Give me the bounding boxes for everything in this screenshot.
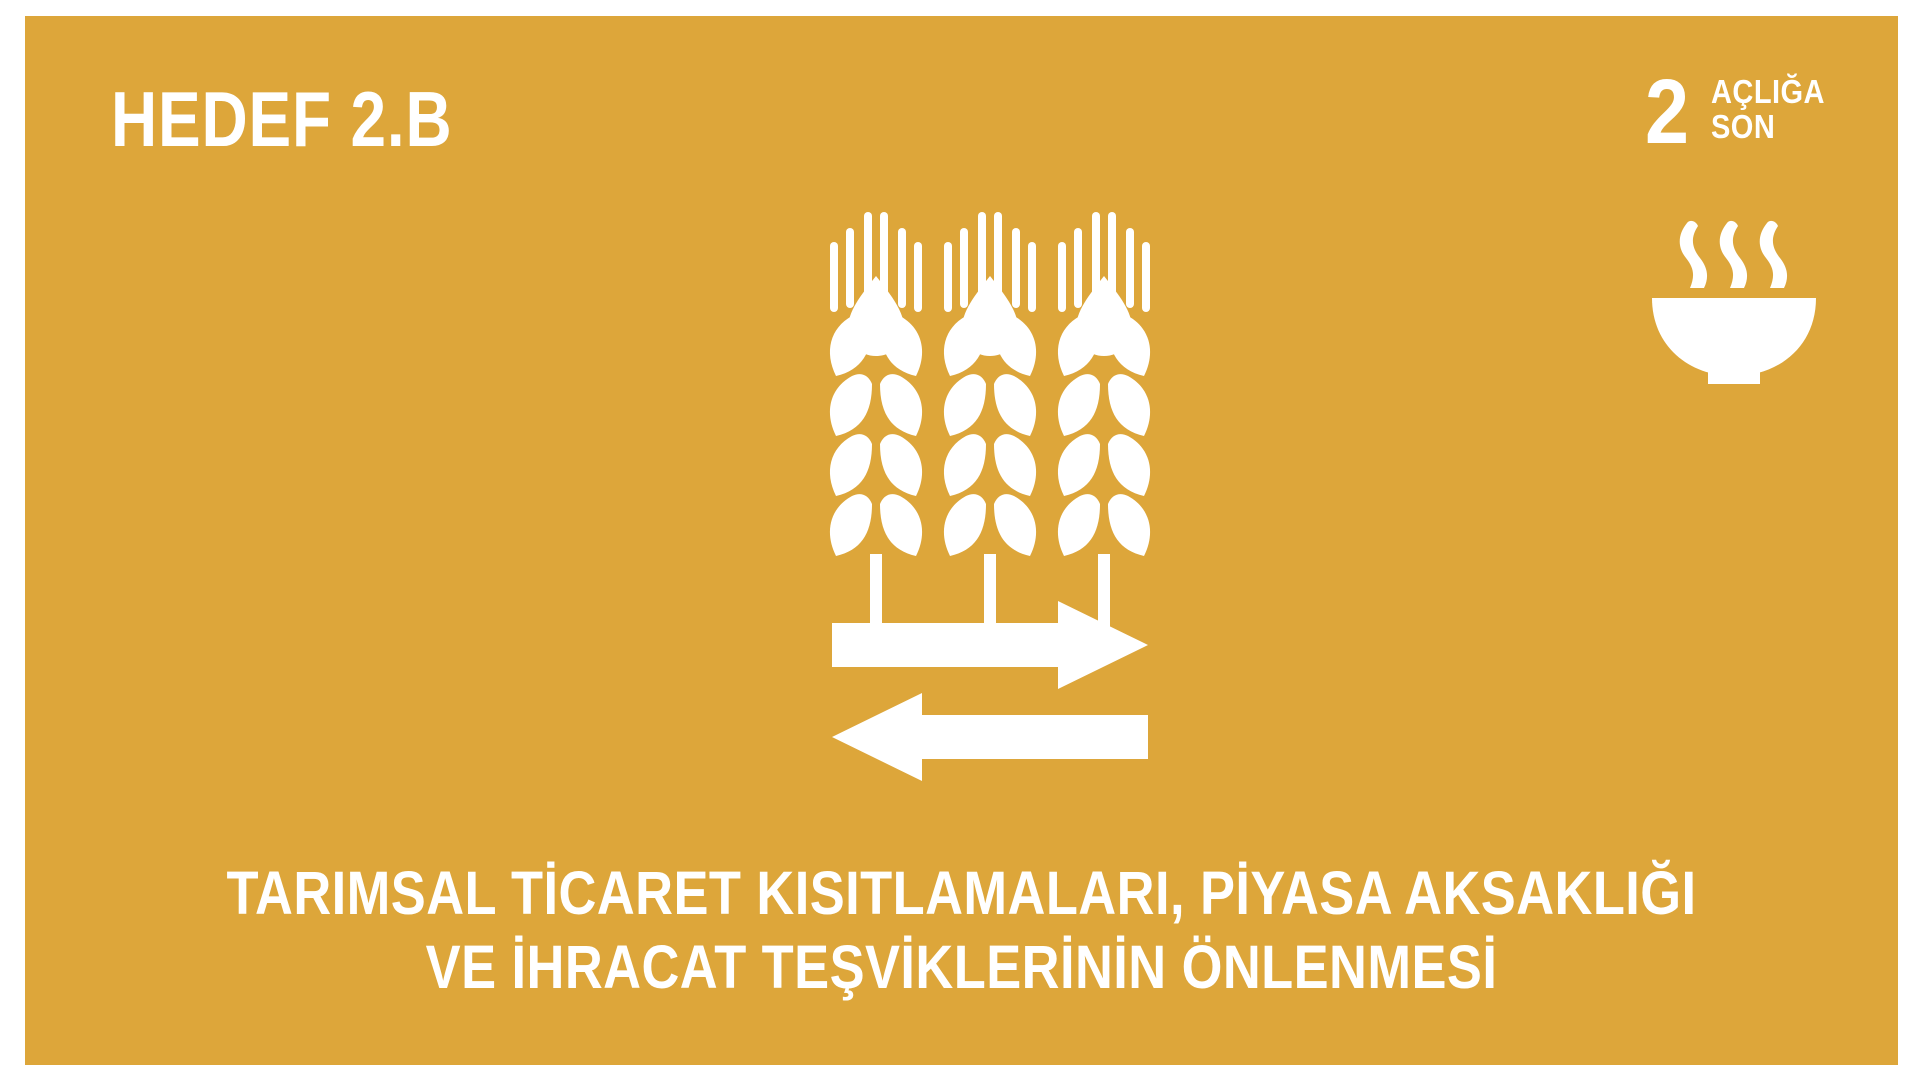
target-description-line-2: VE İHRACAT TEŞVİKLERİNİN ÖNLENMESİ [156, 930, 1767, 1004]
three-wheat-stalks-icon [820, 206, 1160, 666]
page-title: HEDEF 2.B [111, 78, 452, 160]
target-description-line-1: TARIMSAL TİCARET KISITLAMALARI, PİYASA A… [156, 856, 1767, 930]
goal-number: 2 [1645, 70, 1689, 154]
goal-name-line-1: AÇLIĞA [1711, 74, 1825, 109]
import-flow-arrow [832, 693, 1148, 781]
sdg-target-card: HEDEF 2.B 2 AÇLIĞA SON [25, 16, 1898, 1065]
bidirectional-trade-arrows-icon [820, 601, 1160, 781]
target-description: TARIMSAL TİCARET KISITLAMALARI, PİYASA A… [25, 856, 1898, 1004]
export-flow-arrow [832, 601, 1148, 689]
goal-badge: 2 AÇLIĞA SON [1645, 70, 1840, 154]
steaming-bowl-icon [1646, 212, 1846, 392]
goal-name: AÇLIĞA SON [1711, 70, 1841, 144]
goal-name-line-2: SON [1711, 109, 1825, 144]
